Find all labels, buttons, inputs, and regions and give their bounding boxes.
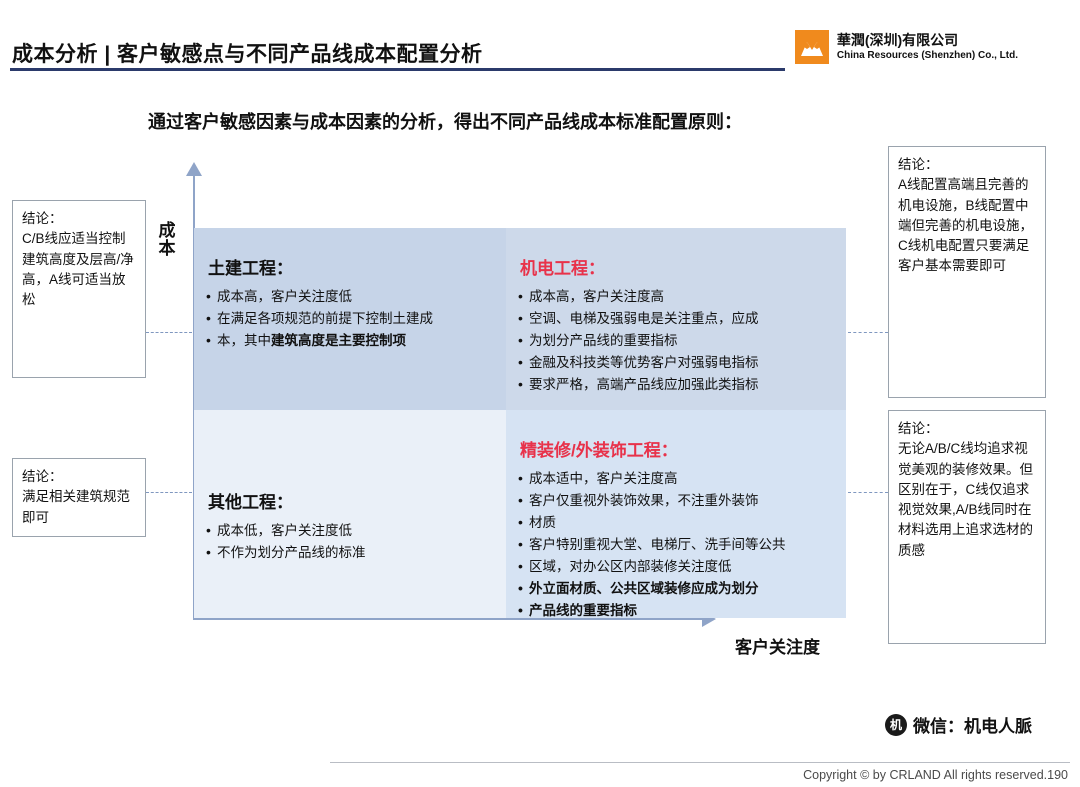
footer-copyright: Copyright © by CRLAND All rights reserve…	[803, 768, 1068, 782]
x-axis-label: 客户关注度	[735, 633, 820, 658]
connector-right-bottom	[848, 492, 888, 493]
quadrant-bullet-list: 成本高，客户关注度高 空调、电梯及强弱电是关注重点，应成 • 为划分产品线的重要…	[518, 287, 834, 396]
quadrant-bullet-list: 成本高，客户关注度低 在满足各项规范的前提下控制土建成 • 本，其中建筑高度是主…	[206, 287, 494, 352]
list-item: 成本高，客户关注度高	[518, 287, 834, 308]
quadrant-bottom-right: 精装修/外装饰工程： 成本适中，客户关注度高 客户仅重视外装饰效果，不注重外装饰…	[506, 410, 846, 618]
cost-axis-arrow-icon	[186, 162, 202, 176]
y-axis-label: 成本	[156, 222, 178, 258]
quadrant-title: 机电工程：	[520, 254, 834, 279]
list-item: 成本适中，客户关注度高	[518, 469, 834, 490]
callout-heading: 结论：	[898, 155, 1036, 175]
list-item: 在满足各项规范的前提下控制土建成	[206, 309, 494, 330]
list-item: • 材质	[518, 513, 834, 534]
quadrant-top-right: 机电工程： 成本高，客户关注度高 空调、电梯及强弱电是关注重点，应成 • 为划分…	[506, 228, 846, 410]
quadrant-bullet-list: 成本低，客户关注度低 不作为划分产品线的标准	[206, 521, 494, 564]
list-item: 成本高，客户关注度低	[206, 287, 494, 308]
list-item: 成本低，客户关注度低	[206, 521, 494, 542]
quadrant-bullet-list: 成本适中，客户关注度高 客户仅重视外装饰效果，不注重外装饰 • 材质 客户特别重…	[518, 469, 834, 621]
watermark-badge-icon: 机	[885, 714, 907, 736]
list-item: • 要求严格，高端产品线应加强此类指标	[518, 375, 834, 396]
callout-right-top: 结论： A线配置高端且完善的机电设施，B线配置中端但完善的机电设施，C线机电配置…	[888, 146, 1046, 398]
list-item: • 产品线的重要指标	[518, 601, 834, 622]
list-item: • 本，其中建筑高度是主要控制项	[206, 331, 494, 352]
callout-heading: 结论：	[22, 209, 136, 229]
page-number: 190	[1047, 768, 1068, 782]
callout-body: C/B线应适当控制建筑高度及层高/净高，A线可适当放松	[22, 231, 134, 307]
callout-left-top: 结论： C/B线应适当控制建筑高度及层高/净高，A线可适当放松	[12, 200, 146, 378]
connector-left-bottom	[146, 492, 192, 493]
watermark: 机 微信：机电人脈	[885, 712, 1032, 737]
company-logo: 華潤(深圳)有限公司 China Resources (Shenzhen) Co…	[795, 30, 1018, 64]
callout-body: 无论A/B/C线均追求视觉美观的装修效果。但区别在于，C线仅追求视觉效果,A/B…	[898, 441, 1033, 557]
quadrant-title: 精装修/外装饰工程：	[520, 436, 834, 461]
page-title: 成本分析 | 客户敏感点与不同产品线成本配置分析	[12, 38, 483, 68]
quadrant-title: 土建工程：	[208, 254, 494, 279]
logo-company-en: China Resources (Shenzhen) Co., Ltd.	[837, 50, 1018, 63]
connector-left-top	[146, 332, 192, 333]
list-item: 不作为划分产品线的标准	[206, 543, 494, 564]
watermark-text: 微信：机电人脈	[913, 712, 1032, 737]
list-item: 客户仅重视外装饰效果，不注重外装饰	[518, 491, 834, 512]
connector-right-top	[848, 332, 888, 333]
callout-heading: 结论：	[898, 419, 1036, 439]
list-item: 外立面材质、公共区域装修应成为划分	[518, 579, 834, 600]
footer-divider	[330, 762, 1070, 763]
callout-body: 满足相关建筑规范即可	[22, 489, 130, 524]
quadrant-title: 其他工程：	[208, 488, 494, 513]
callout-right-bottom: 结论： 无论A/B/C线均追求视觉美观的装修效果。但区别在于，C线仅追求视觉效果…	[888, 410, 1046, 644]
watermark-badge-label: 机	[890, 716, 902, 733]
quadrant-bottom-left: 其他工程： 成本低，客户关注度低 不作为划分产品线的标准	[194, 410, 506, 618]
list-item: • 区域，对办公区内部装修关注度低	[518, 557, 834, 578]
list-item: 空调、电梯及强弱电是关注重点，应成	[518, 309, 834, 330]
list-item: 金融及科技类等优势客户对强弱电指标	[518, 353, 834, 374]
list-item: 客户特别重视大堂、电梯厅、洗手间等公共	[518, 535, 834, 556]
logo-company-cn: 華潤(深圳)有限公司	[837, 32, 1018, 50]
copyright-text: Copyright © by CRLAND All rights reserve…	[803, 768, 1047, 782]
slide-subtitle: 通过客户敏感因素与成本因素的分析，得出不同产品线成本标准配置原则：	[148, 108, 742, 134]
callout-body: A线配置高端且完善的机电设施，B线配置中端但完善的机电设施，C线机电配置只要满足…	[898, 177, 1033, 273]
mountain-logo-icon	[795, 30, 829, 64]
header-divider	[10, 68, 785, 71]
list-item: • 为划分产品线的重要指标	[518, 331, 834, 352]
callout-left-bottom: 结论： 满足相关建筑规范即可	[12, 458, 146, 537]
callout-heading: 结论：	[22, 467, 136, 487]
quadrant-top-left: 土建工程： 成本高，客户关注度低 在满足各项规范的前提下控制土建成 • 本，其中…	[194, 228, 506, 410]
